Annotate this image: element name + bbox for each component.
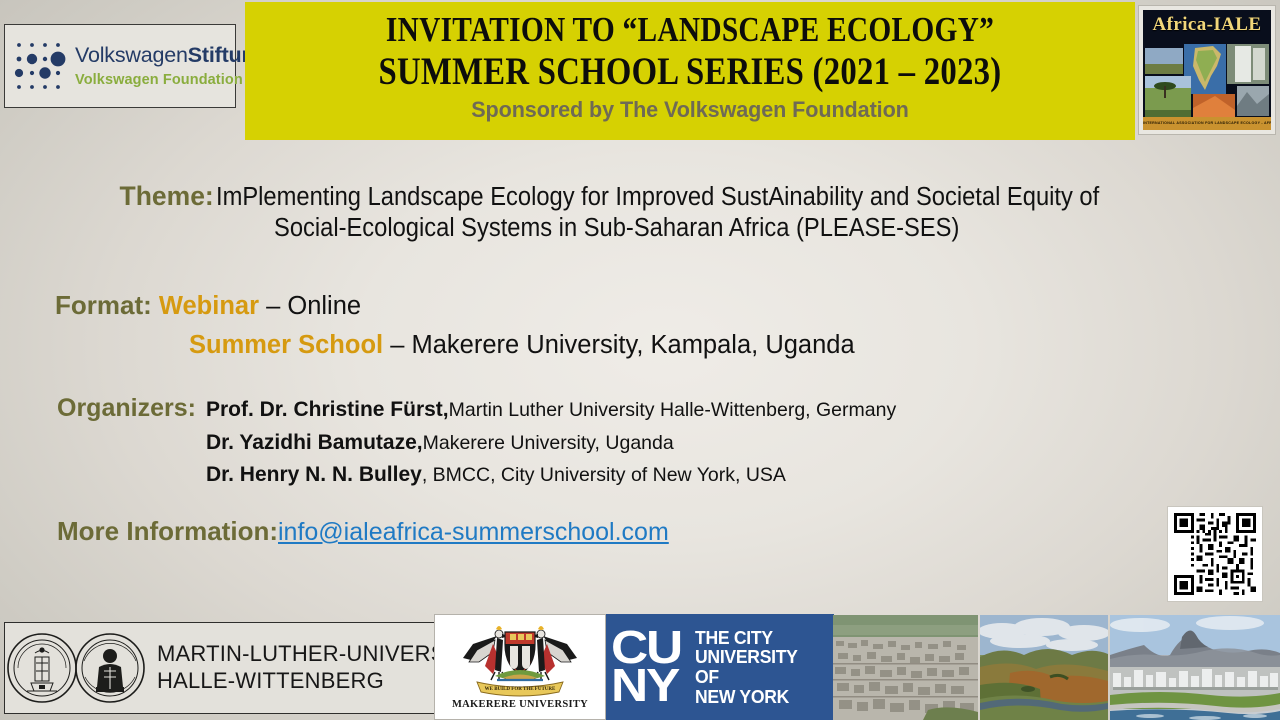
format-mode-webinar: Webinar bbox=[159, 292, 259, 320]
organizer-row-2: Dr. Yazidhi Bamutaze,Makerere University… bbox=[206, 426, 896, 459]
footer-photo-coastal-city bbox=[1110, 615, 1280, 720]
organizer-name-2: Dr. Yazidhi Bamutaze, bbox=[206, 431, 423, 454]
title-banner: INVITATION TO “LANDSCAPE ECOLOGY” SUMMER… bbox=[245, 2, 1135, 140]
vw-dot-grid-icon bbox=[12, 38, 68, 94]
organizer-row-1: Prof. Dr. Christine Fürst,Martin Luther … bbox=[206, 393, 896, 426]
cuny-monogram: CU NY bbox=[611, 629, 681, 704]
qr-code-icon bbox=[1174, 513, 1256, 595]
vw-logo-volkswagen: Volkswagen bbox=[75, 43, 188, 67]
more-information-block: More Information:info@ialeafrica-summers… bbox=[57, 516, 669, 547]
theme-text-line-2: Social-Ecological Systems in Sub-Saharan… bbox=[274, 213, 959, 244]
contact-email-link[interactable]: info@ialeafrica-summerschool.com bbox=[278, 518, 669, 546]
footer-photo-rolling-hills-valley bbox=[980, 615, 1108, 720]
more-information-label: More Information: bbox=[57, 516, 278, 546]
dense-urban-settlement-aerial-image bbox=[833, 615, 978, 720]
theme-label: Theme: bbox=[120, 181, 214, 211]
vw-logo-secondary-text: Volkswagen Foundation bbox=[75, 73, 267, 88]
cuny-wordmark: THE CITY UNIVERSITY OF NEW YORK bbox=[695, 628, 798, 706]
format-detail-summer-school: – Makerere University, Kampala, Uganda bbox=[390, 331, 854, 359]
cuny-logo: CU NY THE CITY UNIVERSITY OF NEW YORK bbox=[606, 614, 834, 720]
cuny-word-line-4: NEW YORK bbox=[695, 687, 798, 707]
iale-logo-caption: INTERNATIONAL ASSOCIATION FOR LANDSCAPE … bbox=[1143, 117, 1271, 130]
iale-logo-title: Africa-IALE bbox=[1143, 14, 1271, 36]
cuny-word-line-1: THE CITY bbox=[695, 628, 798, 648]
theme-block: Theme:ImPlementing Landscape Ecology for… bbox=[30, 180, 1255, 244]
cuny-word-line-2: UNIVERSITY bbox=[695, 647, 798, 667]
format-label: Format: bbox=[55, 290, 152, 320]
organizers-block: Organizers: Prof. Dr. Christine Fürst,Ma… bbox=[57, 390, 896, 491]
mlu-seal-icon-1 bbox=[5, 631, 79, 705]
coastal-city-with-mountain-image bbox=[1110, 615, 1280, 720]
organizer-name-1: Prof. Dr. Christine Fürst, bbox=[206, 398, 449, 421]
mlu-seal-icon-2 bbox=[73, 631, 147, 705]
format-mode-summer-school: Summer School bbox=[189, 331, 383, 359]
format-row-webinar: Format: Webinar – Online bbox=[55, 286, 855, 326]
format-block: Format: Webinar – Online Summer School –… bbox=[55, 286, 855, 365]
format-detail-webinar: – Online bbox=[266, 292, 361, 320]
organizer-affiliation-3: , BMCC, City University of New York, USA bbox=[422, 464, 786, 486]
martin-luther-university-logo: MARTIN-LUTHER-UNIVERSITÄT HALLE-WITTENBE… bbox=[4, 622, 436, 714]
svg-text:WE BUILD FOR THE FUTURE: WE BUILD FOR THE FUTURE bbox=[485, 687, 556, 692]
organizer-affiliation-1: Martin Luther University Halle-Wittenber… bbox=[449, 399, 897, 421]
footer-photo-dense-urban-settlement bbox=[833, 615, 978, 720]
presentation-slide: VolkswagenStiftung Volkswagen Foundation… bbox=[0, 0, 1280, 720]
organizer-affiliation-2: Makerere University, Uganda bbox=[423, 432, 674, 454]
banner-subtitle: Sponsored by The Volkswagen Foundation bbox=[263, 97, 1117, 123]
qr-code[interactable] bbox=[1167, 506, 1263, 602]
banner-title-line-1: INVITATION TO “LANDSCAPE ECOLOGY” bbox=[316, 8, 1064, 47]
makerere-coat-of-arms-icon: WE BUILD FOR THE FUTURE bbox=[455, 618, 585, 698]
volkswagen-foundation-logo: VolkswagenStiftung Volkswagen Foundation bbox=[4, 24, 236, 108]
vw-logo-primary-text: VolkswagenStiftung bbox=[75, 45, 267, 67]
organizers-label: Organizers: bbox=[57, 390, 196, 427]
mlu-name-line-2: HALLE-WITTENBERG bbox=[157, 668, 436, 695]
theme-text-line-1: ImPlementing Landscape Ecology for Impro… bbox=[216, 182, 1099, 213]
rolling-hills-valley-wetland-image bbox=[980, 615, 1108, 720]
africa-iale-logo: Africa-IALE INTERNATIONAL ASSOCIATION FO… bbox=[1138, 5, 1276, 135]
banner-title-line-2: SUMMER SCHOOL SERIES (2021 – 2023) bbox=[316, 47, 1064, 91]
cuny-word-line-3: OF bbox=[695, 667, 798, 687]
cuny-monogram-line-2: NY bbox=[611, 667, 681, 705]
organizer-name-3: Dr. Henry N. N. Bulley bbox=[206, 463, 422, 486]
format-row-summer-school: Summer School – Makerere University, Kam… bbox=[55, 326, 855, 365]
makerere-university-name: MAKERERE UNIVERSITY bbox=[435, 699, 605, 710]
makerere-university-logo: WE BUILD FOR THE FUTURE MAKERERE UNIVERS… bbox=[434, 614, 606, 720]
organizer-row-3: Dr. Henry N. N. Bulley, BMCC, City Unive… bbox=[206, 458, 896, 491]
mlu-name-line-1: MARTIN-LUTHER-UNIVERSITÄT bbox=[157, 641, 436, 668]
